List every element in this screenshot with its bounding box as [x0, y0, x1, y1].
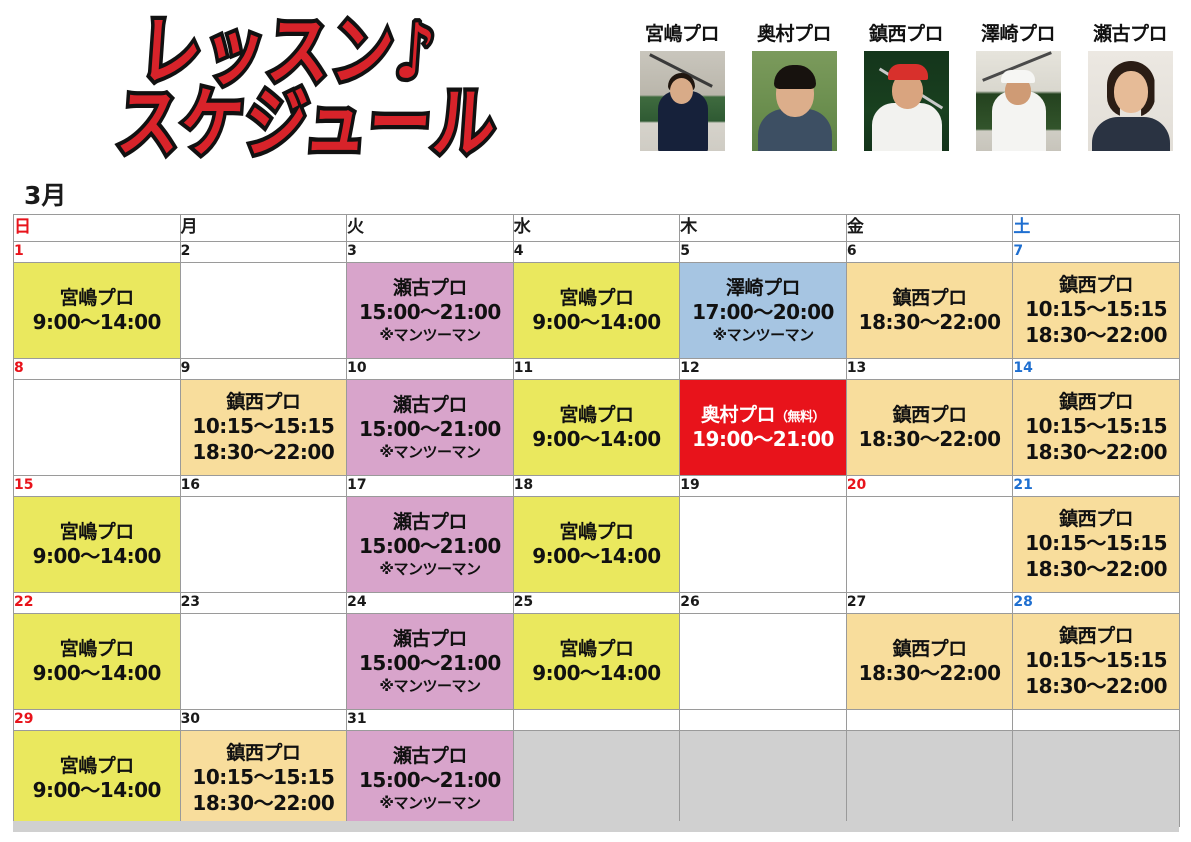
lesson-time-1: 9:00〜14:00 — [33, 778, 161, 804]
pro-photo-miyajima — [640, 51, 725, 151]
date-number-22: 22 — [14, 593, 181, 614]
pro-photo-okumura — [752, 51, 837, 151]
weekday-header-1: 月 — [180, 215, 347, 242]
lesson-cell-25[interactable]: 宮嶋プロ9:00〜14:00 — [513, 614, 680, 710]
lesson-cell-5[interactable]: 澤崎プロ17:00〜20:00※マンツーマン — [680, 263, 847, 359]
lesson-cell-content — [680, 731, 846, 826]
lesson-cell-content — [847, 731, 1013, 826]
lesson-cell-empty — [846, 731, 1013, 827]
pro-card-seko: 瀬古プロ — [1078, 24, 1182, 151]
lesson-schedule-calendar: 日月火水木金土 1234567宮嶋プロ9:00〜14:00瀬古プロ15:00〜2… — [13, 214, 1180, 827]
date-number-31: 31 — [347, 710, 514, 731]
lesson-cell-content: 瀬古プロ15:00〜21:00※マンツーマン — [347, 614, 513, 709]
lesson-time-1: 10:15〜15:15 — [1025, 531, 1167, 557]
lesson-slot-row: 宮嶋プロ9:00〜14:00瀬古プロ15:00〜21:00※マンツーマン宮嶋プロ… — [14, 497, 1180, 593]
calendar-header-row: 日月火水木金土 — [14, 215, 1180, 242]
lesson-cell-content: 瀬古プロ15:00〜21:00※マンツーマン — [347, 380, 513, 475]
lesson-time-1: 18:30〜22:00 — [859, 661, 1001, 687]
month-label: 3月 — [24, 176, 66, 212]
lesson-cell-23 — [180, 614, 347, 710]
date-number-row: 891011121314 — [14, 359, 1180, 380]
lesson-time-2: 18:30〜22:00 — [192, 440, 334, 466]
date-number-empty — [1013, 710, 1180, 731]
lesson-time-2: 18:30〜22:00 — [1025, 557, 1167, 583]
date-number-4: 4 — [513, 242, 680, 263]
lesson-pro-name: 宮嶋プロ — [60, 286, 134, 310]
lesson-cell-content: 宮嶋プロ9:00〜14:00 — [514, 497, 680, 592]
pro-photo-seko — [1088, 51, 1173, 151]
lesson-time-1: 9:00〜14:00 — [532, 544, 660, 570]
lesson-slot-row: 宮嶋プロ9:00〜14:00瀬古プロ15:00〜21:00※マンツーマン宮嶋プロ… — [14, 614, 1180, 710]
lesson-note: ※マンツーマン — [379, 443, 480, 462]
date-number-empty — [513, 710, 680, 731]
date-number-row: 1234567 — [14, 242, 1180, 263]
lesson-cell-8 — [14, 380, 181, 476]
pro-card-okumura: 奥村プロ — [742, 24, 846, 151]
lesson-cell-1[interactable]: 宮嶋プロ9:00〜14:00 — [14, 263, 181, 359]
lesson-time-2: 18:30〜22:00 — [1025, 323, 1167, 349]
lesson-cell-content — [847, 497, 1013, 592]
free-lesson-tag: （無料） — [775, 410, 825, 425]
lesson-pro-name: 宮嶋プロ — [559, 637, 633, 661]
date-number-11: 11 — [513, 359, 680, 380]
lesson-time-1: 17:00〜20:00 — [692, 300, 834, 326]
lesson-time-1: 9:00〜14:00 — [532, 427, 660, 453]
lesson-time-2: 18:30〜22:00 — [192, 791, 334, 817]
lesson-cell-content: 宮嶋プロ9:00〜14:00 — [514, 380, 680, 475]
lesson-cell-26 — [680, 614, 847, 710]
lesson-time-1: 10:15〜15:15 — [1025, 297, 1167, 323]
lesson-cell-7[interactable]: 鎮西プロ10:15〜15:1518:30〜22:00 — [1013, 263, 1180, 359]
date-number-2: 2 — [180, 242, 347, 263]
lesson-cell-content: 瀬古プロ15:00〜21:00※マンツーマン — [347, 497, 513, 592]
title-artwork: レッスン♪ スケジュール — [120, 8, 630, 178]
lesson-cell-content — [14, 380, 180, 475]
lesson-pro-name: 奥村プロ（無料） — [701, 403, 825, 427]
lesson-pro-name: 鎮西プロ — [1059, 390, 1133, 414]
lesson-cell-content — [680, 614, 846, 709]
lesson-cell-27[interactable]: 鎮西プロ18:30〜22:00 — [846, 614, 1013, 710]
date-number-27: 27 — [846, 593, 1013, 614]
lesson-cell-28[interactable]: 鎮西プロ10:15〜15:1518:30〜22:00 — [1013, 614, 1180, 710]
weekday-header-0: 日 — [14, 215, 181, 242]
date-number-8: 8 — [14, 359, 181, 380]
date-number-5: 5 — [680, 242, 847, 263]
lesson-cell-13[interactable]: 鎮西プロ18:30〜22:00 — [846, 380, 1013, 476]
date-number-16: 16 — [180, 476, 347, 497]
lesson-note: ※マンツーマン — [379, 677, 480, 696]
date-number-23: 23 — [180, 593, 347, 614]
lesson-cell-29[interactable]: 宮嶋プロ9:00〜14:00 — [14, 731, 181, 827]
date-number-17: 17 — [347, 476, 514, 497]
lesson-note: ※マンツーマン — [379, 326, 480, 345]
date-number-15: 15 — [14, 476, 181, 497]
weekday-header-5: 金 — [846, 215, 1013, 242]
lesson-pro-name: 瀬古プロ — [393, 276, 467, 300]
lesson-cell-content: 宮嶋プロ9:00〜14:00 — [514, 263, 680, 358]
lesson-slot-row: 宮嶋プロ9:00〜14:00瀬古プロ15:00〜21:00※マンツーマン宮嶋プロ… — [14, 263, 1180, 359]
pro-card-chinzei: 鎮西プロ — [854, 24, 958, 151]
lesson-cell-content — [181, 497, 347, 592]
lesson-pro-name: 宮嶋プロ — [559, 286, 633, 310]
lesson-time-1: 18:30〜22:00 — [859, 427, 1001, 453]
pro-photo-chinzei — [864, 51, 949, 151]
lesson-pro-name: 鎮西プロ — [893, 403, 967, 427]
lesson-cell-content: 鎮西プロ18:30〜22:00 — [847, 380, 1013, 475]
lesson-cell-empty — [680, 731, 847, 827]
lesson-slot-row: 宮嶋プロ9:00〜14:00鎮西プロ10:15〜15:1518:30〜22:00… — [14, 731, 1180, 827]
lesson-pro-name: 宮嶋プロ — [559, 520, 633, 544]
lesson-cell-14[interactable]: 鎮西プロ10:15〜15:1518:30〜22:00 — [1013, 380, 1180, 476]
date-number-25: 25 — [513, 593, 680, 614]
date-number-1: 1 — [14, 242, 181, 263]
lesson-cell-content: 鎮西プロ18:30〜22:00 — [847, 263, 1013, 358]
bottom-divider — [13, 821, 1179, 832]
calendar-body: 1234567宮嶋プロ9:00〜14:00瀬古プロ15:00〜21:00※マンツ… — [14, 242, 1180, 827]
lesson-cell-11[interactable]: 宮嶋プロ9:00〜14:00 — [513, 380, 680, 476]
lesson-cell-content: 瀬古プロ15:00〜21:00※マンツーマン — [347, 263, 513, 358]
lesson-cell-21[interactable]: 鎮西プロ10:15〜15:1518:30〜22:00 — [1013, 497, 1180, 593]
lesson-cell-content: 宮嶋プロ9:00〜14:00 — [14, 731, 180, 826]
lesson-cell-6[interactable]: 鎮西プロ18:30〜22:00 — [846, 263, 1013, 359]
lesson-time-2: 18:30〜22:00 — [1025, 674, 1167, 700]
lesson-note: ※マンツーマン — [379, 794, 480, 813]
date-number-3: 3 — [347, 242, 514, 263]
lesson-cell-content — [181, 263, 347, 358]
lesson-cell-content: 宮嶋プロ9:00〜14:00 — [14, 263, 180, 358]
lesson-cell-12[interactable]: 奥村プロ（無料）19:00〜21:00 — [680, 380, 847, 476]
lesson-cell-content: 澤崎プロ17:00〜20:00※マンツーマン — [680, 263, 846, 358]
lesson-time-1: 15:00〜21:00 — [359, 651, 501, 677]
pro-card-miyajima: 宮嶋プロ — [630, 24, 734, 151]
lesson-time-1: 9:00〜14:00 — [33, 310, 161, 336]
pro-name-label: 奥村プロ — [757, 24, 831, 45]
pro-card-sawazaki: 澤崎プロ — [966, 24, 1070, 151]
lesson-pro-name: 宮嶋プロ — [559, 403, 633, 427]
lesson-time-1: 19:00〜21:00 — [692, 427, 834, 453]
date-number-18: 18 — [513, 476, 680, 497]
date-number-24: 24 — [347, 593, 514, 614]
lesson-time-1: 9:00〜14:00 — [33, 544, 161, 570]
lesson-time-1: 15:00〜21:00 — [359, 768, 501, 794]
lesson-cell-content — [514, 731, 680, 826]
lesson-cell-content: 鎮西プロ10:15〜15:1518:30〜22:00 — [1013, 614, 1179, 709]
lesson-cell-10[interactable]: 瀬古プロ15:00〜21:00※マンツーマン — [347, 380, 514, 476]
lesson-time-1: 10:15〜15:15 — [1025, 648, 1167, 674]
lesson-time-1: 9:00〜14:00 — [532, 661, 660, 687]
lesson-cell-22[interactable]: 宮嶋プロ9:00〜14:00 — [14, 614, 181, 710]
lesson-cell-content: 鎮西プロ18:30〜22:00 — [847, 614, 1013, 709]
date-number-empty — [846, 710, 1013, 731]
date-number-13: 13 — [846, 359, 1013, 380]
lesson-pro-name: 鎮西プロ — [1059, 507, 1133, 531]
lesson-pro-name: 鎮西プロ — [893, 286, 967, 310]
lesson-pro-name: 宮嶋プロ — [60, 754, 134, 778]
lesson-pro-name: 瀬古プロ — [393, 744, 467, 768]
lesson-time-1: 10:15〜15:15 — [192, 765, 334, 791]
date-number-21: 21 — [1013, 476, 1180, 497]
lesson-pro-name: 鎮西プロ — [226, 741, 300, 765]
date-number-7: 7 — [1013, 242, 1180, 263]
lesson-cell-31[interactable]: 瀬古プロ15:00〜21:00※マンツーマン — [347, 731, 514, 827]
lesson-pro-name: 鎮西プロ — [1059, 624, 1133, 648]
lesson-cell-24[interactable]: 瀬古プロ15:00〜21:00※マンツーマン — [347, 614, 514, 710]
lesson-cell-17[interactable]: 瀬古プロ15:00〜21:00※マンツーマン — [347, 497, 514, 593]
lesson-cell-4[interactable]: 宮嶋プロ9:00〜14:00 — [513, 263, 680, 359]
lesson-cell-9[interactable]: 鎮西プロ10:15〜15:1518:30〜22:00 — [180, 380, 347, 476]
date-number-26: 26 — [680, 593, 847, 614]
date-number-20: 20 — [846, 476, 1013, 497]
lesson-pro-name: 鎮西プロ — [893, 637, 967, 661]
lesson-cell-empty — [513, 731, 680, 827]
lesson-time-1: 9:00〜14:00 — [532, 310, 660, 336]
lesson-pro-name: 瀬古プロ — [393, 627, 467, 651]
pro-name-label: 瀬古プロ — [1093, 24, 1167, 45]
lesson-time-1: 15:00〜21:00 — [359, 417, 501, 443]
lesson-cell-content: 鎮西プロ10:15〜15:1518:30〜22:00 — [1013, 497, 1179, 592]
date-number-28: 28 — [1013, 593, 1180, 614]
lesson-cell-content — [680, 497, 846, 592]
lesson-cell-15[interactable]: 宮嶋プロ9:00〜14:00 — [14, 497, 181, 593]
lesson-cell-content: 宮嶋プロ9:00〜14:00 — [14, 614, 180, 709]
pro-photo-sawazaki — [976, 51, 1061, 151]
lesson-time-1: 10:15〜15:15 — [192, 414, 334, 440]
lesson-pro-name: 鎮西プロ — [1059, 273, 1133, 297]
lesson-slot-row: 鎮西プロ10:15〜15:1518:30〜22:00瀬古プロ15:00〜21:0… — [14, 380, 1180, 476]
date-number-row: 22232425262728 — [14, 593, 1180, 614]
lesson-pro-name: 鎮西プロ — [226, 390, 300, 414]
lesson-pro-name: 宮嶋プロ — [60, 637, 134, 661]
lesson-pro-name: 瀬古プロ — [393, 510, 467, 534]
lesson-cell-19 — [680, 497, 847, 593]
lesson-cell-content: 宮嶋プロ9:00〜14:00 — [14, 497, 180, 592]
lesson-time-1: 18:30〜22:00 — [859, 310, 1001, 336]
weekday-header-2: 火 — [347, 215, 514, 242]
pro-name-label: 澤崎プロ — [981, 24, 1055, 45]
page-header: レッスン♪ スケジュール 3月 宮嶋プロ 奥村プロ 鎮西プロ 澤崎プロ — [0, 0, 1191, 205]
lesson-cell-18[interactable]: 宮嶋プロ9:00〜14:00 — [513, 497, 680, 593]
lesson-cell-16 — [180, 497, 347, 593]
date-number-19: 19 — [680, 476, 847, 497]
lesson-cell-30[interactable]: 鎮西プロ10:15〜15:1518:30〜22:00 — [180, 731, 347, 827]
lesson-time-1: 15:00〜21:00 — [359, 534, 501, 560]
lesson-note: ※マンツーマン — [712, 326, 813, 345]
lesson-cell-20 — [846, 497, 1013, 593]
lesson-cell-content: 奥村プロ（無料）19:00〜21:00 — [680, 380, 846, 475]
date-number-30: 30 — [180, 710, 347, 731]
lesson-cell-2 — [180, 263, 347, 359]
lesson-pro-name: 澤崎プロ — [726, 276, 800, 300]
date-number-row: 15161718192021 — [14, 476, 1180, 497]
date-number-9: 9 — [180, 359, 347, 380]
title-line-2: スケジュール — [115, 86, 500, 162]
date-number-14: 14 — [1013, 359, 1180, 380]
lesson-pro-name: 瀬古プロ — [393, 393, 467, 417]
lesson-cell-content: 鎮西プロ10:15〜15:1518:30〜22:00 — [1013, 263, 1179, 358]
lesson-cell-content: 瀬古プロ15:00〜21:00※マンツーマン — [347, 731, 513, 826]
lesson-cell-content: 鎮西プロ10:15〜15:1518:30〜22:00 — [181, 731, 347, 826]
lesson-pro-name: 宮嶋プロ — [60, 520, 134, 544]
lesson-cell-content: 鎮西プロ10:15〜15:1518:30〜22:00 — [181, 380, 347, 475]
lesson-cell-content — [1013, 731, 1179, 826]
lesson-time-1: 15:00〜21:00 — [359, 300, 501, 326]
lesson-cell-content — [181, 614, 347, 709]
lesson-note: ※マンツーマン — [379, 560, 480, 579]
date-number-row: 293031 — [14, 710, 1180, 731]
lesson-time-1: 10:15〜15:15 — [1025, 414, 1167, 440]
lesson-cell-content: 宮嶋プロ9:00〜14:00 — [514, 614, 680, 709]
date-number-6: 6 — [846, 242, 1013, 263]
date-number-10: 10 — [347, 359, 514, 380]
weekday-header-6: 土 — [1013, 215, 1180, 242]
weekday-header-3: 水 — [513, 215, 680, 242]
date-number-12: 12 — [680, 359, 847, 380]
lesson-cell-empty — [1013, 731, 1180, 827]
lesson-cell-3[interactable]: 瀬古プロ15:00〜21:00※マンツーマン — [347, 263, 514, 359]
pro-name-label: 鎮西プロ — [869, 24, 943, 45]
lesson-cell-content: 鎮西プロ10:15〜15:1518:30〜22:00 — [1013, 380, 1179, 475]
pro-instructor-strip: 宮嶋プロ 奥村プロ 鎮西プロ 澤崎プロ 瀬古プロ — [630, 24, 1182, 174]
lesson-time-2: 18:30〜22:00 — [1025, 440, 1167, 466]
weekday-header-4: 木 — [680, 215, 847, 242]
date-number-29: 29 — [14, 710, 181, 731]
pro-name-label: 宮嶋プロ — [645, 24, 719, 45]
lesson-time-1: 9:00〜14:00 — [33, 661, 161, 687]
date-number-empty — [680, 710, 847, 731]
